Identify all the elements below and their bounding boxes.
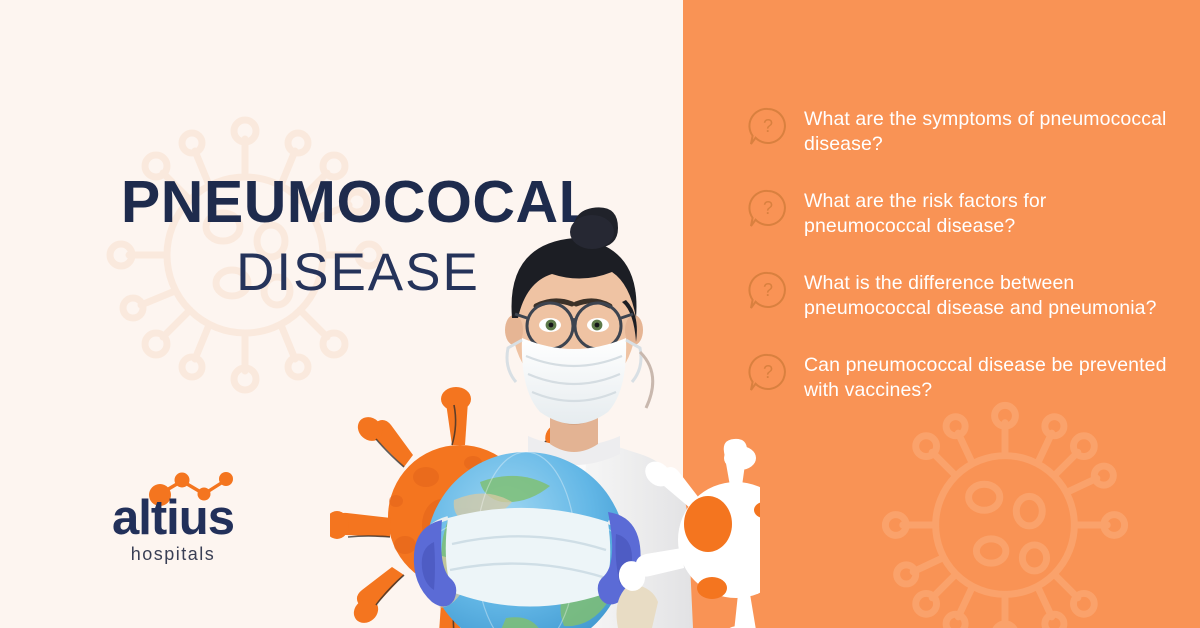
question-list: ? What are the symptoms of pneumococcal … <box>748 104 1168 403</box>
altius-hospitals-logo[interactable]: altius hospitals <box>78 468 268 580</box>
question-item[interactable]: ? What are the risk factors for pneumoco… <box>748 186 1168 238</box>
svg-text:?: ? <box>763 116 773 136</box>
question-text: What are the symptoms of pneumococcal di… <box>804 104 1168 156</box>
question-item[interactable]: ? What is the difference between pneumoc… <box>748 268 1168 320</box>
question-text: What are the risk factors for pneumococc… <box>804 186 1168 238</box>
question-item[interactable]: ? Can pneumococcal disease be prevented … <box>748 350 1168 402</box>
question-item[interactable]: ? What are the symptoms of pneumococcal … <box>748 104 1168 156</box>
logo-wordmark: altius <box>78 494 268 543</box>
molecule-node <box>175 473 190 488</box>
svg-text:?: ? <box>763 280 773 300</box>
question-bubble-icon: ? <box>748 352 788 394</box>
molecule-node <box>219 472 233 486</box>
question-text: Can pneumococcal disease be prevented wi… <box>804 350 1168 402</box>
pneumococcal-disease-banner: PNEUMOCOCAL DISEASE <box>0 0 1200 628</box>
question-text: What is the difference between pneumococ… <box>804 268 1168 320</box>
svg-text:?: ? <box>763 362 773 382</box>
logo-tagline: hospitals <box>78 544 268 565</box>
question-bubble-icon: ? <box>748 270 788 312</box>
question-bubble-icon: ? <box>748 106 788 148</box>
head <box>505 207 653 424</box>
svg-text:?: ? <box>763 198 773 218</box>
healthcare-worker-photo <box>330 0 760 628</box>
question-bubble-icon: ? <box>748 188 788 230</box>
